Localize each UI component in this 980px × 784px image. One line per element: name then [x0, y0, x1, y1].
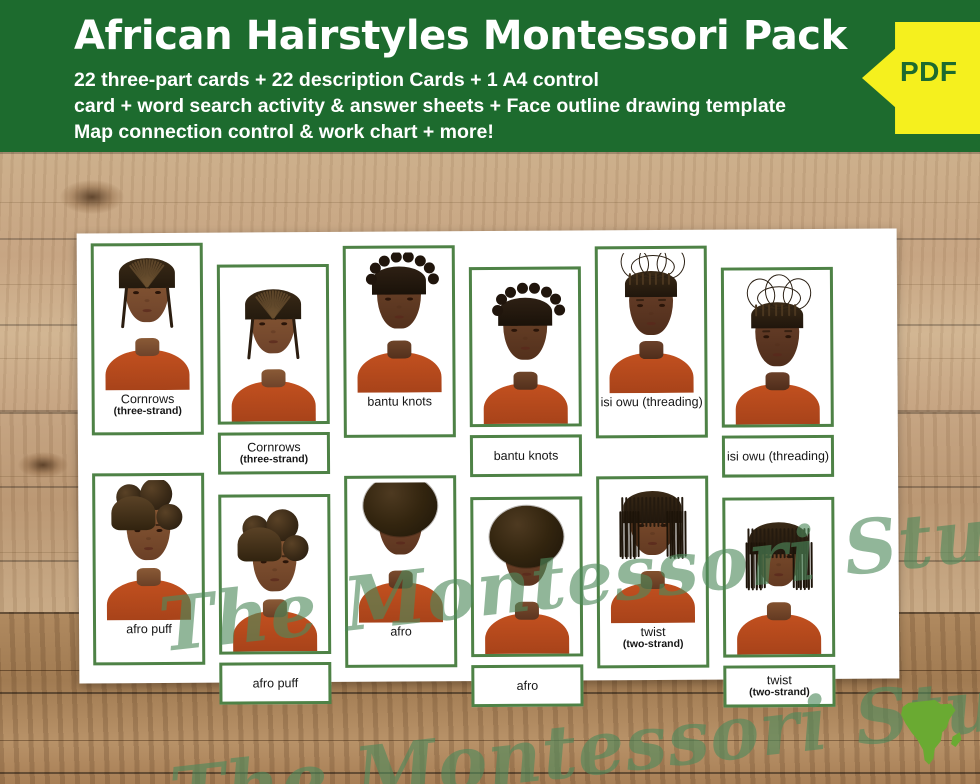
neck: [389, 570, 413, 588]
caption-line-2: (three-strand): [95, 406, 201, 418]
neck: [263, 599, 287, 617]
picture-card[interactable]: [217, 264, 330, 425]
portrait-illustration: [351, 252, 448, 393]
label-card[interactable]: twist(two-strand): [723, 665, 835, 708]
card-caption: afro: [348, 624, 454, 639]
picture-card[interactable]: bantu knots: [343, 245, 456, 438]
portrait-illustration: [225, 271, 322, 422]
caption-line-1: afro puff: [253, 676, 299, 690]
picture-card[interactable]: isi owu (threading): [595, 246, 708, 439]
neck: [513, 372, 537, 390]
product-listing-image: African Hairstyles Montessori Pack 22 th…: [0, 0, 980, 784]
portrait-illustration: [352, 482, 449, 623]
label-card[interactable]: Cornrows(three-strand): [218, 432, 330, 475]
neck: [261, 369, 285, 387]
neck: [765, 372, 789, 390]
card-caption: bantu knots: [347, 394, 453, 409]
label-card[interactable]: isi owu (threading): [722, 435, 834, 478]
header-banner: African Hairstyles Montessori Pack 22 th…: [0, 0, 980, 152]
subtitle-line-1: 22 three-part cards + 22 description Car…: [74, 68, 934, 94]
page-title: African Hairstyles Montessori Pack: [74, 16, 894, 56]
card-caption: Cornrows(three-strand): [95, 392, 201, 418]
subtitle-line-2: card + word search activity & answer she…: [74, 94, 934, 120]
portrait-illustration: [226, 501, 323, 652]
neck: [639, 341, 663, 359]
portrait-illustration: [100, 480, 197, 621]
card-caption: afro puff: [96, 622, 202, 637]
card-grid: Cornrows(three-strand) Cornrows(three-st…: [77, 228, 900, 683]
subtitle-line-3: Map connection control & work chart + mo…: [74, 120, 934, 146]
card-caption: afro: [517, 679, 539, 693]
neck: [137, 568, 161, 586]
picture-card[interactable]: twist(two-strand): [596, 476, 709, 669]
caption-line-1: bantu knots: [347, 394, 453, 409]
portrait-illustration: [99, 250, 196, 391]
picture-card[interactable]: afro: [344, 475, 457, 668]
card-caption: Cornrows(three-strand): [240, 440, 308, 466]
neck: [767, 602, 791, 620]
header-subtitle: 22 three-part cards + 22 description Car…: [74, 68, 934, 146]
caption-line-1: bantu knots: [494, 449, 559, 463]
picture-card[interactable]: [721, 267, 834, 428]
label-card[interactable]: afro: [471, 664, 583, 707]
card-caption: afro puff: [253, 676, 299, 690]
caption-line-2: (three-strand): [240, 454, 308, 466]
caption-line-1: isi owu (threading): [599, 395, 705, 410]
pdf-badge: PDF: [862, 22, 980, 134]
card-sheet: Cornrows(three-strand) Cornrows(three-st…: [77, 228, 900, 683]
caption-line-1: afro: [517, 679, 539, 693]
caption-line-1: isi owu (threading): [727, 449, 829, 464]
portrait-illustration: [730, 504, 827, 655]
portrait-illustration: [603, 253, 700, 394]
picture-card[interactable]: afro puff: [92, 473, 205, 666]
card-caption: twist(two-strand): [600, 625, 706, 651]
neck: [387, 340, 411, 358]
africa-continent-logo: [892, 694, 966, 772]
caption-line-1: afro: [348, 624, 454, 639]
label-card[interactable]: bantu knots: [470, 434, 582, 477]
portrait-illustration: [477, 273, 574, 424]
picture-card[interactable]: Cornrows(three-strand): [91, 243, 204, 436]
portrait-illustration: [604, 483, 701, 624]
caption-line-2: (two-strand): [749, 687, 810, 699]
card-caption: isi owu (threading): [599, 395, 705, 410]
card-caption: twist(two-strand): [749, 673, 810, 699]
label-card[interactable]: afro puff: [219, 662, 331, 705]
card-caption: bantu knots: [494, 449, 559, 463]
picture-card[interactable]: [722, 497, 835, 658]
neck: [641, 571, 665, 589]
picture-card[interactable]: [470, 496, 583, 657]
picture-card[interactable]: [469, 266, 582, 427]
portrait-illustration: [478, 503, 575, 654]
neck: [515, 602, 539, 620]
neck: [135, 338, 159, 356]
caption-line-1: afro puff: [96, 622, 202, 637]
portrait-illustration: [729, 274, 826, 425]
picture-card[interactable]: [218, 494, 331, 655]
caption-line-2: (two-strand): [600, 639, 706, 651]
card-caption: isi owu (threading): [727, 449, 829, 464]
pdf-badge-label: PDF: [900, 56, 958, 88]
